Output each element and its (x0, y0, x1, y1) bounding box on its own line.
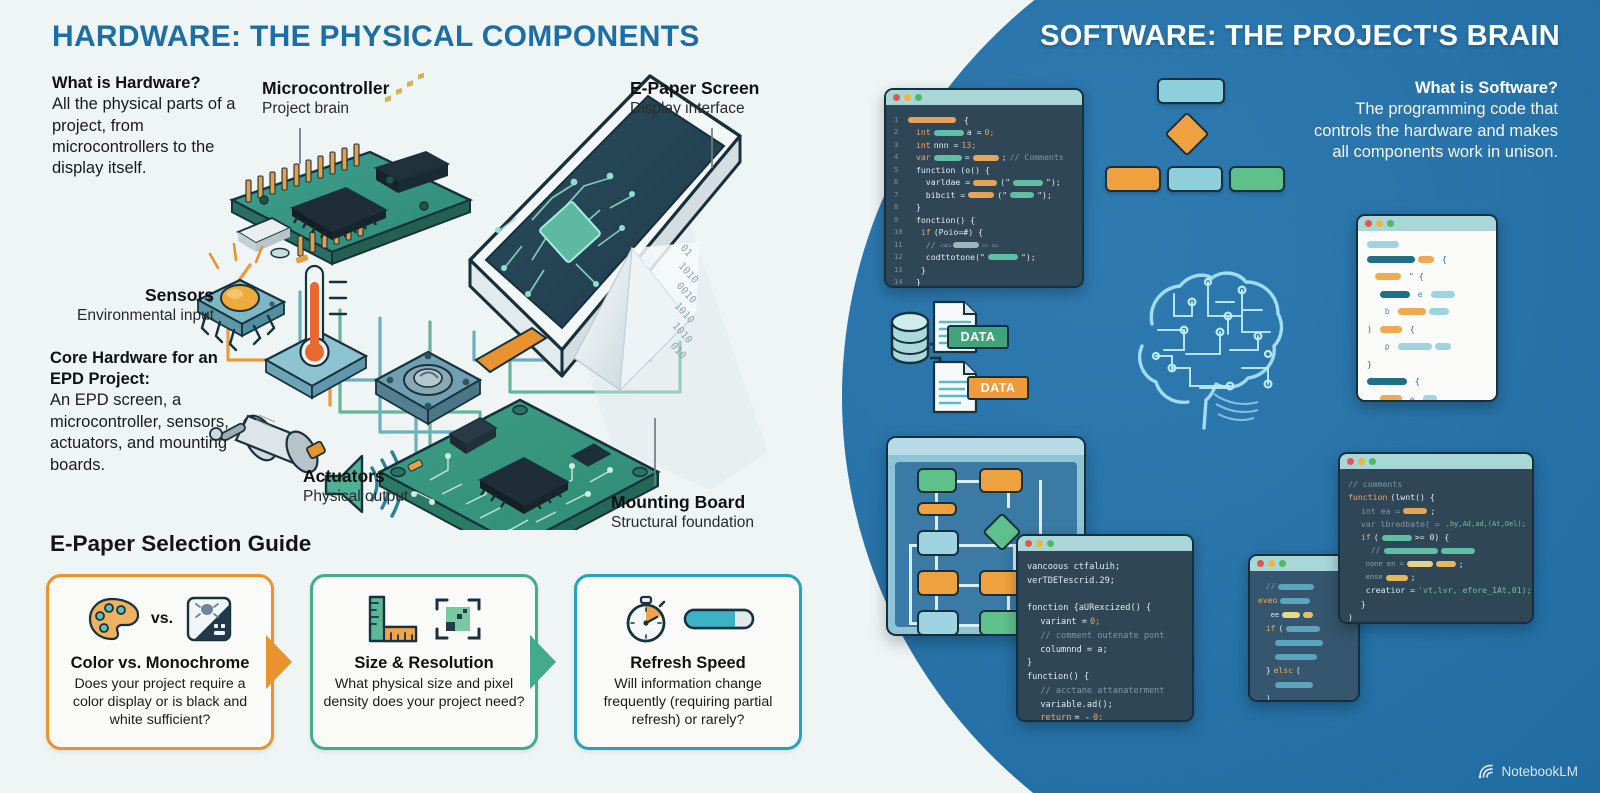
label-mounting-board: Mounting Board Structural foundation (611, 492, 754, 532)
selection-guide-title: E-Paper Selection Guide (50, 531, 311, 557)
ruler-icon (365, 594, 421, 644)
label-epaper-sub: Display interface (630, 99, 759, 118)
core-hardware-block: Core Hardware for an EPD Project: An EPD… (50, 348, 230, 476)
card3-icons (621, 590, 755, 648)
progress-bar-icon (683, 606, 755, 632)
label-actuators: Actuators Physical output (303, 466, 408, 506)
core-hardware-body: An EPD screen, a microcontroller, sensor… (50, 390, 230, 476)
database-cylinder-icon (892, 313, 928, 363)
main-code-window[interactable]: 1 { 2 int a = 0; 3 int nnn = 13; 4 var =… (884, 88, 1084, 288)
label-microcontroller-sub: Project brain (262, 99, 389, 118)
flow-node-6 (917, 570, 959, 596)
notebooklm-icon (1478, 764, 1495, 779)
flow-node-1 (917, 468, 957, 493)
hardware-intro-heading: What is Hardware? (52, 73, 242, 94)
guide-card-color-vs-monochrome[interactable]: vs. Color vs. Monochrome Does your proje… (46, 574, 274, 750)
software-intro-heading: What is Software? (1296, 78, 1558, 99)
guide-card-refresh-speed[interactable]: Refresh Speed Will information change fr… (574, 574, 802, 750)
card2-title: Size & Resolution (354, 654, 493, 673)
card3-title: Refresh Speed (630, 654, 746, 673)
circuit-brain-icon (1112, 258, 1312, 433)
label-mounting-name: Mounting Board (611, 492, 754, 513)
label-actuators-sub: Physical output (303, 487, 408, 506)
leader-epaper (711, 128, 713, 168)
right-code-window[interactable]: // comments function (lwnt() { int ea = … (1338, 452, 1534, 624)
label-epaper-screen: E-Paper Screen Display interface (630, 78, 759, 118)
software-node-diagram (1105, 78, 1295, 198)
right-code-window-titlebar (1340, 454, 1532, 469)
node-right (1229, 166, 1285, 192)
right-code-window-body: // comments function (lwnt() { int ea = … (1340, 469, 1532, 624)
data-badge-orange: DATA (967, 376, 1029, 400)
node-decision (1164, 111, 1209, 156)
hardware-intro-block: What is Hardware? All the physical parts… (52, 73, 242, 180)
software-panel-title: SOFTWARE: THE PROJECT'S BRAIN (1040, 20, 1560, 53)
resolution-icon (433, 595, 483, 643)
label-sensors-sub: Environmental input (66, 306, 214, 325)
label-sensors: Sensors Environmental input (66, 285, 214, 325)
core-hardware-heading: Core Hardware for an EPD Project: (50, 348, 230, 390)
flow-node-2 (979, 468, 1023, 493)
guide-arrow-2 (538, 574, 574, 750)
label-mounting-sub: Structural foundation (611, 513, 754, 532)
card1-title: Color vs. Monochrome (71, 654, 250, 673)
flow-overlay-titlebar (1018, 536, 1192, 551)
main-code-window-body: 1 { 2 int a = 0; 3 int nnn = 13; 4 var =… (886, 105, 1082, 288)
flow-overlay-code-window[interactable]: vancoous ctfaluih; verTDETescrid.29; fon… (1016, 534, 1194, 722)
main-code-window-titlebar (886, 90, 1082, 105)
leader-mounting (654, 418, 656, 486)
monochrome-icon (185, 595, 233, 643)
node-top (1157, 78, 1225, 104)
leader-microcontroller (299, 128, 301, 164)
label-sensors-name: Sensors (66, 285, 214, 306)
label-microcontroller-name: Microcontroller (262, 78, 389, 99)
hardware-panel-title: HARDWARE: THE PHYSICAL COMPONENTS (52, 20, 700, 54)
infographic-canvas: HARDWARE: THE PHYSICAL COMPONENTS (0, 0, 1600, 793)
node-left (1105, 166, 1161, 192)
vs-label: vs. (151, 610, 173, 628)
card1-icons: vs. (87, 590, 233, 648)
software-intro-block: What is Software? The programming code t… (1296, 78, 1558, 164)
card2-desc: What physical size and pixel density doe… (322, 676, 526, 712)
flow-overlay-body: vancoous ctfaluih; verTDETescrid.29; fon… (1018, 551, 1192, 722)
selection-guide-cards: vs. Color vs. Monochrome Does your proje… (46, 574, 802, 750)
light-code-window[interactable]: { " { e b ) { p } { e b { ) (1356, 214, 1498, 402)
flow-node-5 (917, 530, 959, 556)
hardware-illustration: 01 1010 0010 1010 1010 010 (180, 60, 840, 530)
hardware-intro-body: All the physical parts of a project, fro… (52, 94, 242, 180)
guide-arrow-1 (274, 574, 310, 750)
flow-node-8 (917, 610, 959, 636)
data-flow-cluster (884, 300, 1044, 420)
card2-icons (365, 590, 483, 648)
light-code-window-body: { " { e b ) { p } { e b { ) (1358, 231, 1496, 402)
palette-icon (87, 596, 139, 642)
flow-node-3 (917, 502, 957, 516)
flowchart-window-titlebar (888, 438, 1084, 455)
label-epaper-name: E-Paper Screen (630, 78, 759, 99)
notebooklm-label: NotebookLM (1501, 764, 1578, 779)
guide-card-size-resolution[interactable]: Size & Resolution What physical size and… (310, 574, 538, 750)
card1-desc: Does your project require a color displa… (58, 676, 262, 729)
data-badge-green: DATA (947, 325, 1009, 349)
notebooklm-watermark: NotebookLM (1478, 764, 1578, 779)
thermometer-sensor (266, 266, 366, 398)
light-code-window-titlebar (1358, 216, 1496, 231)
software-intro-body: The programming code that controls the h… (1296, 99, 1558, 163)
card3-desc: Will information change frequently (requ… (586, 676, 790, 729)
label-microcontroller: Microcontroller Project brain (262, 78, 389, 118)
node-center (1167, 166, 1223, 192)
stopwatch-icon (621, 594, 671, 644)
label-actuators-name: Actuators (303, 466, 408, 487)
